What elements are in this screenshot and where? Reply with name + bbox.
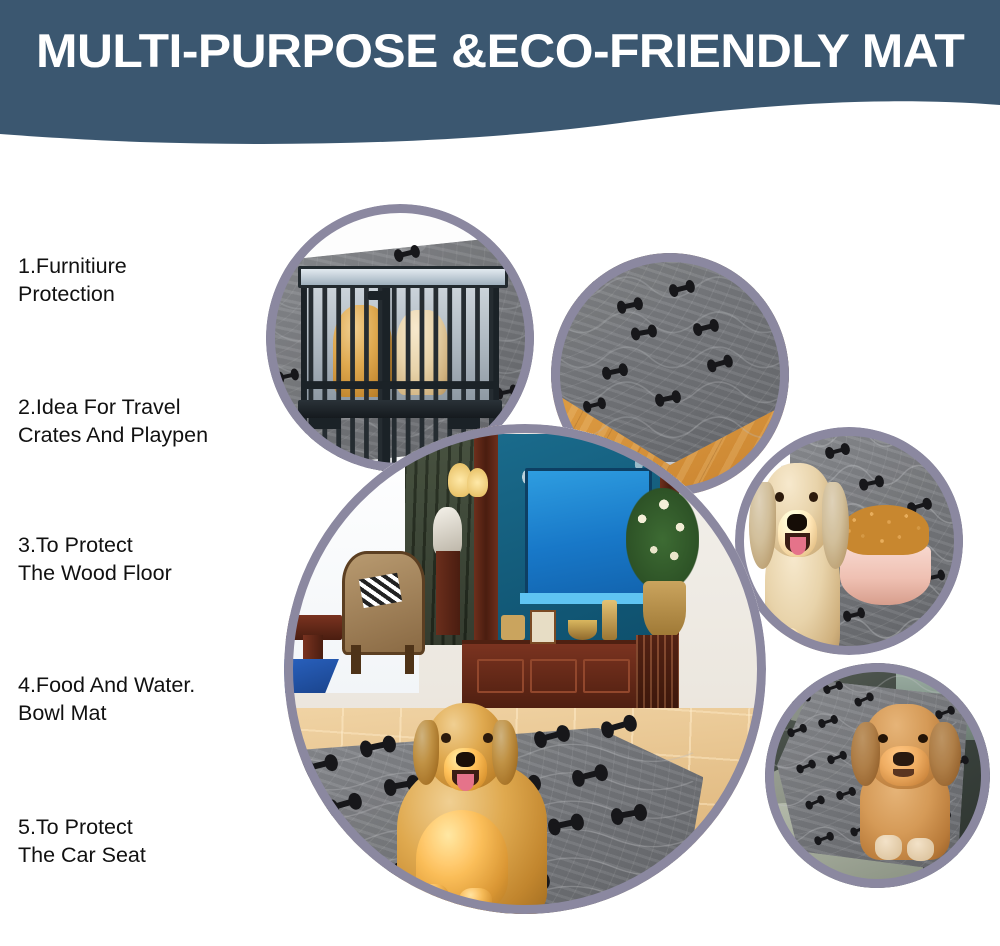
pedestal — [436, 551, 460, 634]
page-title: MULTI-PURPOSE &ECO-FRIENDLY MAT — [36, 22, 1000, 80]
golden-retriever-dog — [390, 698, 554, 914]
picture-frame — [530, 610, 556, 643]
bust-sculpture — [433, 507, 462, 556]
wood-column — [474, 424, 498, 649]
feature-item-1: 1.Furnitiure Protection — [18, 252, 298, 308]
food-bowl-scene — [735, 427, 963, 655]
living-room-scene — [284, 424, 766, 914]
armchair-leg — [405, 645, 415, 674]
dog-crate — [301, 276, 499, 405]
crate-latch-icon — [368, 291, 386, 300]
bubble-living-room-photo — [284, 424, 766, 914]
brass-candlestick — [602, 600, 616, 639]
bubble-food-bowl-photo — [735, 427, 963, 655]
flower-arrangement — [626, 488, 698, 591]
feature-item-5: 5.To Protect The Car Seat — [18, 813, 298, 869]
tv-stand-shelf — [520, 593, 650, 604]
header-banner: MULTI-PURPOSE &ECO-FRIENDLY MAT — [0, 0, 1000, 150]
feature-item-4: 4.Food And Water. Bowl Mat — [18, 671, 298, 727]
table-lamp-icon — [467, 468, 488, 497]
mantel-clock — [501, 615, 525, 640]
car-seat-scene — [765, 663, 990, 888]
brass-bowl — [568, 620, 597, 640]
crate-roof — [298, 266, 508, 288]
urn-vase — [643, 581, 686, 640]
bubble-car-seat-photo — [765, 663, 990, 888]
mastiff-puppy — [851, 704, 964, 857]
armchair-leg — [351, 645, 361, 674]
crate-base — [298, 400, 502, 419]
feature-item-3: 3.To Protect The Wood Floor — [18, 531, 298, 587]
feature-item-2: 2.Idea For Travel Crates And Playpen — [18, 393, 298, 449]
